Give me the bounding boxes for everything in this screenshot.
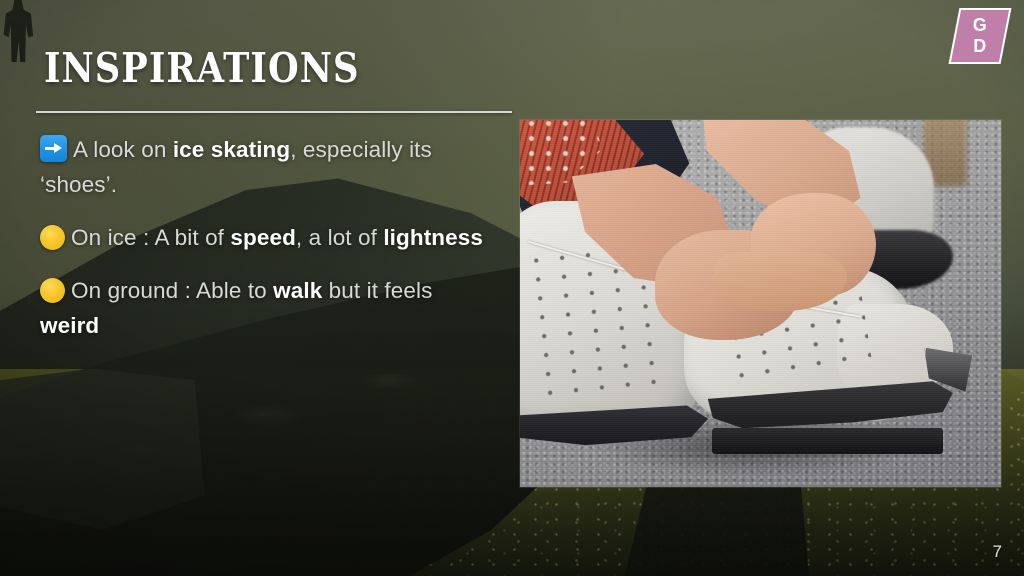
bullet-text-1: A look on ice skating, especially its ‘s…	[40, 137, 432, 197]
logo-letters: G D	[954, 8, 1006, 64]
bullet-text-2: On ice : A bit of speed, a lot of lightn…	[71, 225, 483, 250]
page-number: 7	[993, 542, 1002, 562]
list-item: On ice : A bit of speed, a lot of lightn…	[40, 220, 492, 255]
brand-logo: G D	[954, 8, 1006, 64]
yellow-circle-icon	[40, 225, 65, 250]
list-item: On ground : Able to walk but it feels we…	[40, 273, 492, 343]
photo-grain	[520, 120, 1001, 487]
list-item: A look on ice skating, especially its ‘s…	[40, 132, 492, 202]
yellow-circle-icon	[40, 278, 65, 303]
arrow-right-icon	[40, 135, 67, 162]
logo-letter-g: G	[973, 15, 988, 36]
presentation-slide: INSPIRATIONS A look on ice skating, espe…	[0, 0, 1024, 576]
page-title: INSPIRATIONS	[44, 48, 359, 89]
ice-skates-photo	[520, 120, 1001, 487]
bullet-list: A look on ice skating, especially its ‘s…	[40, 132, 492, 361]
logo-letter-d: D	[973, 36, 987, 57]
bullet-text-3: On ground : Able to walk but it feels we…	[40, 278, 432, 338]
title-divider	[36, 111, 512, 113]
